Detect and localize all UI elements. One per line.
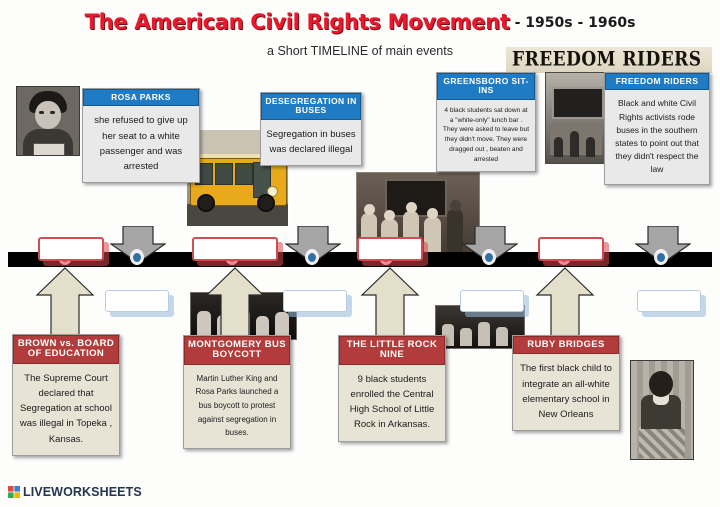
card-little-rock-title: THE LITTLE ROCK NINE [339, 336, 445, 365]
arrow-up-little-rock [360, 267, 420, 343]
card-freedom-riders: FREEDOM RIDERS Black and white Civil Rig… [604, 72, 710, 185]
liveworksheets-logo-icon [8, 486, 20, 498]
card-rosa-parks-title: ROSA PARKS [83, 89, 199, 106]
card-rosa-parks-body: she refused to give up her seat to a whi… [83, 106, 199, 182]
card-montgomery-title: MONTGOMERY BUS BOYCOTT [184, 336, 290, 365]
card-greensboro-sit-ins: GREENSBORO SIT-INS 4 black students sat … [436, 72, 536, 172]
card-brown-body: The Supreme Court declared that Segregat… [13, 364, 119, 455]
card-freedom-riders-body: Black and white Civil Rights activists r… [605, 90, 709, 184]
card-ruby-title: RUBY BRIDGES [513, 336, 619, 354]
answer-input-b1[interactable] [105, 290, 169, 312]
freedom-riders-bus-photo [545, 72, 609, 164]
freedom-riders-banner-label: FREEDOM RIDERS [512, 48, 702, 71]
card-the-little-rock-nine: THE LITTLE ROCK NINE 9 black students en… [338, 335, 446, 442]
card-freedom-riders-title: FREEDOM RIDERS [605, 73, 709, 90]
liveworksheets-footer: LIVEWORKSHEETS [8, 484, 142, 500]
card-ruby-bridges: RUBY BRIDGES The first black child to in… [512, 335, 620, 431]
card-montgomery-bus-boycott: MONTGOMERY BUS BOYCOTT Martin Luther Kin… [183, 335, 291, 449]
answer-input-a4[interactable] [538, 237, 604, 261]
rosa-parks-photo [16, 86, 80, 156]
answer-input-a1[interactable] [38, 237, 104, 261]
card-brown-vs-board-of-education: BROWN vs. BOARD OF EDUCATION The Supreme… [12, 334, 120, 456]
card-ruby-body: The first black child to integrate an al… [513, 354, 619, 430]
timeline-marker-8 [654, 249, 668, 265]
arrow-up-ruby-bridges [535, 267, 595, 343]
card-rosa-parks: ROSA PARKS she refused to give up her se… [82, 88, 200, 183]
worksheet-canvas: The American Civil Rights Movement- 1950… [0, 0, 720, 507]
page-title: The American Civil Rights Movement- 1950… [0, 10, 720, 34]
answer-input-b2[interactable] [283, 290, 347, 312]
arrow-up-brown-board [35, 267, 95, 343]
card-brown-title: BROWN vs. BOARD OF EDUCATION [13, 335, 119, 364]
card-desegregation-title: DESEGREGATION IN BUSES [261, 93, 361, 120]
card-desegregation-body: Segregation in buses was declared illega… [261, 120, 361, 165]
timeline-marker-6 [482, 249, 496, 265]
card-desegregation-in-buses: DESEGREGATION IN BUSES Segregation in bu… [260, 92, 362, 166]
arrow-up-montgomery [205, 267, 265, 343]
answer-input-b4[interactable] [637, 290, 701, 312]
answer-input-b3[interactable] [460, 290, 524, 312]
timeline-marker-2 [130, 249, 144, 265]
answer-input-a2[interactable] [192, 237, 278, 261]
card-greensboro-title: GREENSBORO SIT-INS [437, 73, 535, 100]
page-title-main: The American Civil Rights Movement [85, 10, 510, 34]
page-title-years: - 1950s - 1960s [515, 15, 636, 31]
card-montgomery-body: Martin Luther King and Rosa Parks launch… [184, 365, 290, 448]
timeline-marker-4 [305, 249, 319, 265]
freedom-riders-banner-image: FREEDOM RIDERS [506, 47, 712, 73]
card-greensboro-body: 4 black students sat down at a "white-on… [437, 100, 535, 171]
ruby-bridges-photo [630, 360, 694, 460]
card-little-rock-body: 9 black students enrolled the Central Hi… [339, 365, 445, 441]
answer-input-a3[interactable] [357, 237, 423, 261]
liveworksheets-brand-label: LIVEWORKSHEETS [23, 485, 142, 499]
